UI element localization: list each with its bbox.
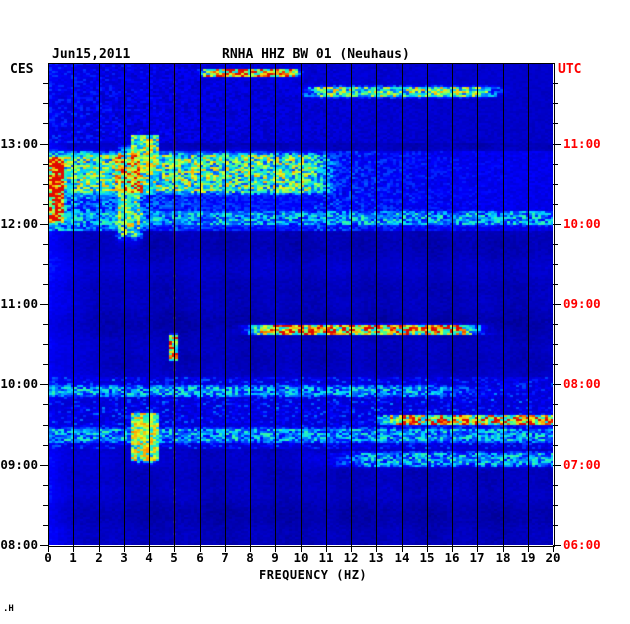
y-left-minor-tick — [43, 123, 48, 124]
x-tick-label-17: 17 — [467, 550, 487, 565]
x-tick-label-4: 4 — [139, 550, 159, 565]
y-right-minor-tick — [553, 404, 558, 405]
x-gridline-1hz — [73, 63, 74, 545]
y-left-tick — [40, 384, 48, 385]
x-gridline-11hz — [326, 63, 327, 545]
x-gridline-17hz — [477, 63, 478, 545]
left-axis-name: CES — [10, 62, 33, 77]
x-gridline-18hz — [503, 63, 504, 545]
y-left-tick-label-1200: 12:00 — [0, 216, 38, 231]
y-left-minor-tick — [43, 264, 48, 265]
y-left-tick-label-1000: 10:00 — [0, 376, 38, 391]
y-left-tick-label-0900: 09:00 — [0, 457, 38, 472]
y-right-minor-tick — [553, 184, 558, 185]
spectrogram-figure: Jun15,2011 RNHA HHZ BW 01 (Neuhaus) CES … — [0, 0, 630, 624]
x-tick-label-18: 18 — [493, 550, 513, 565]
y-left-minor-tick — [43, 344, 48, 345]
x-tick-label-2: 2 — [89, 550, 109, 565]
x-tick-label-10: 10 — [291, 550, 311, 565]
x-tick-label-5: 5 — [164, 550, 184, 565]
y-left-minor-tick — [43, 184, 48, 185]
y-left-tick — [40, 224, 48, 225]
y-right-minor-tick — [553, 244, 558, 245]
y-right-tick-label-0800: 08:00 — [563, 376, 601, 391]
y-right-minor-tick — [553, 284, 558, 285]
x-gridline-9hz — [275, 63, 276, 545]
y-right-minor-tick — [553, 264, 558, 265]
y-left-tick-label-1100: 11:00 — [0, 296, 38, 311]
x-axis-title: FREQUENCY (HZ) — [259, 568, 367, 582]
x-tick-label-15: 15 — [417, 550, 437, 565]
y-left-tick — [40, 465, 48, 466]
x-tick-label-12: 12 — [341, 550, 361, 565]
x-gridline-3hz — [124, 63, 125, 545]
x-gridline-10hz — [301, 63, 302, 545]
y-right-minor-tick — [553, 103, 558, 104]
corner-mark: .H — [3, 604, 14, 614]
y-left-tick — [40, 545, 48, 546]
x-gridline-14hz — [402, 63, 403, 545]
y-right-tick-label-0600: 06:00 — [563, 537, 601, 552]
y-right-minor-tick — [553, 164, 558, 165]
y-right-minor-tick — [553, 425, 558, 426]
x-gridline-13hz — [376, 63, 377, 545]
y-right-minor-tick — [553, 204, 558, 205]
y-left-minor-tick — [43, 324, 48, 325]
x-gridline-16hz — [452, 63, 453, 545]
y-right-minor-tick — [553, 525, 558, 526]
y-right-tick-label-1100: 11:00 — [563, 136, 601, 151]
y-right-minor-tick — [553, 505, 558, 506]
y-right-tick-label-0900: 09:00 — [563, 296, 601, 311]
y-right-minor-tick — [553, 123, 558, 124]
x-tick-label-20: 20 — [543, 550, 563, 565]
x-gridline-8hz — [250, 63, 251, 545]
station-title: RNHA HHZ BW 01 (Neuhaus) — [222, 47, 410, 62]
y-left-minor-tick — [43, 525, 48, 526]
y-left-minor-tick — [43, 284, 48, 285]
x-tick-label-1: 1 — [63, 550, 83, 565]
y-left-minor-tick — [43, 83, 48, 84]
x-gridline-19hz — [528, 63, 529, 545]
x-tick-label-14: 14 — [392, 550, 412, 565]
x-tick-label-6: 6 — [190, 550, 210, 565]
y-left-minor-tick — [43, 204, 48, 205]
y-left-minor-tick — [43, 404, 48, 405]
x-tick-label-8: 8 — [240, 550, 260, 565]
x-tick-label-3: 3 — [114, 550, 134, 565]
y-left-tick — [40, 304, 48, 305]
spectrogram-plot-area[interactable] — [48, 63, 553, 545]
y-right-tick — [553, 224, 561, 225]
y-left-minor-tick — [43, 364, 48, 365]
y-right-tick-label-0700: 07:00 — [563, 457, 601, 472]
y-right-minor-tick — [553, 83, 558, 84]
y-right-tick — [553, 144, 561, 145]
x-gridline-2hz — [99, 63, 100, 545]
x-tick-label-11: 11 — [316, 550, 336, 565]
y-right-tick — [553, 304, 561, 305]
x-gridline-12hz — [351, 63, 352, 545]
y-right-minor-tick — [553, 344, 558, 345]
x-tick-label-9: 9 — [265, 550, 285, 565]
y-left-minor-tick — [43, 485, 48, 486]
y-right-minor-tick — [553, 324, 558, 325]
y-left-minor-tick — [43, 445, 48, 446]
right-axis-name: UTC — [558, 62, 581, 77]
y-left-minor-tick — [43, 103, 48, 104]
x-gridline-4hz — [149, 63, 150, 545]
x-tick-label-0: 0 — [38, 550, 58, 565]
y-right-tick — [553, 465, 561, 466]
y-right-tick — [553, 384, 561, 385]
y-right-tick-label-1000: 10:00 — [563, 216, 601, 231]
y-right-minor-tick — [553, 364, 558, 365]
y-left-minor-tick — [43, 164, 48, 165]
y-right-tick — [553, 545, 561, 546]
date-label: Jun15,2011 — [52, 47, 130, 62]
x-gridline-6hz — [200, 63, 201, 545]
y-left-tick — [40, 144, 48, 145]
x-tick-label-13: 13 — [366, 550, 386, 565]
y-left-minor-tick — [43, 505, 48, 506]
y-right-minor-tick — [553, 445, 558, 446]
x-gridline-15hz — [427, 63, 428, 545]
x-tick-label-16: 16 — [442, 550, 462, 565]
y-left-minor-tick — [43, 425, 48, 426]
x-gridline-5hz — [174, 63, 175, 545]
x-gridline-7hz — [225, 63, 226, 545]
x-tick-label-19: 19 — [518, 550, 538, 565]
y-left-tick-label-0800: 08:00 — [0, 537, 38, 552]
y-right-minor-tick — [553, 485, 558, 486]
y-left-minor-tick — [43, 244, 48, 245]
y-left-tick-label-1300: 13:00 — [0, 136, 38, 151]
x-tick-label-7: 7 — [215, 550, 235, 565]
